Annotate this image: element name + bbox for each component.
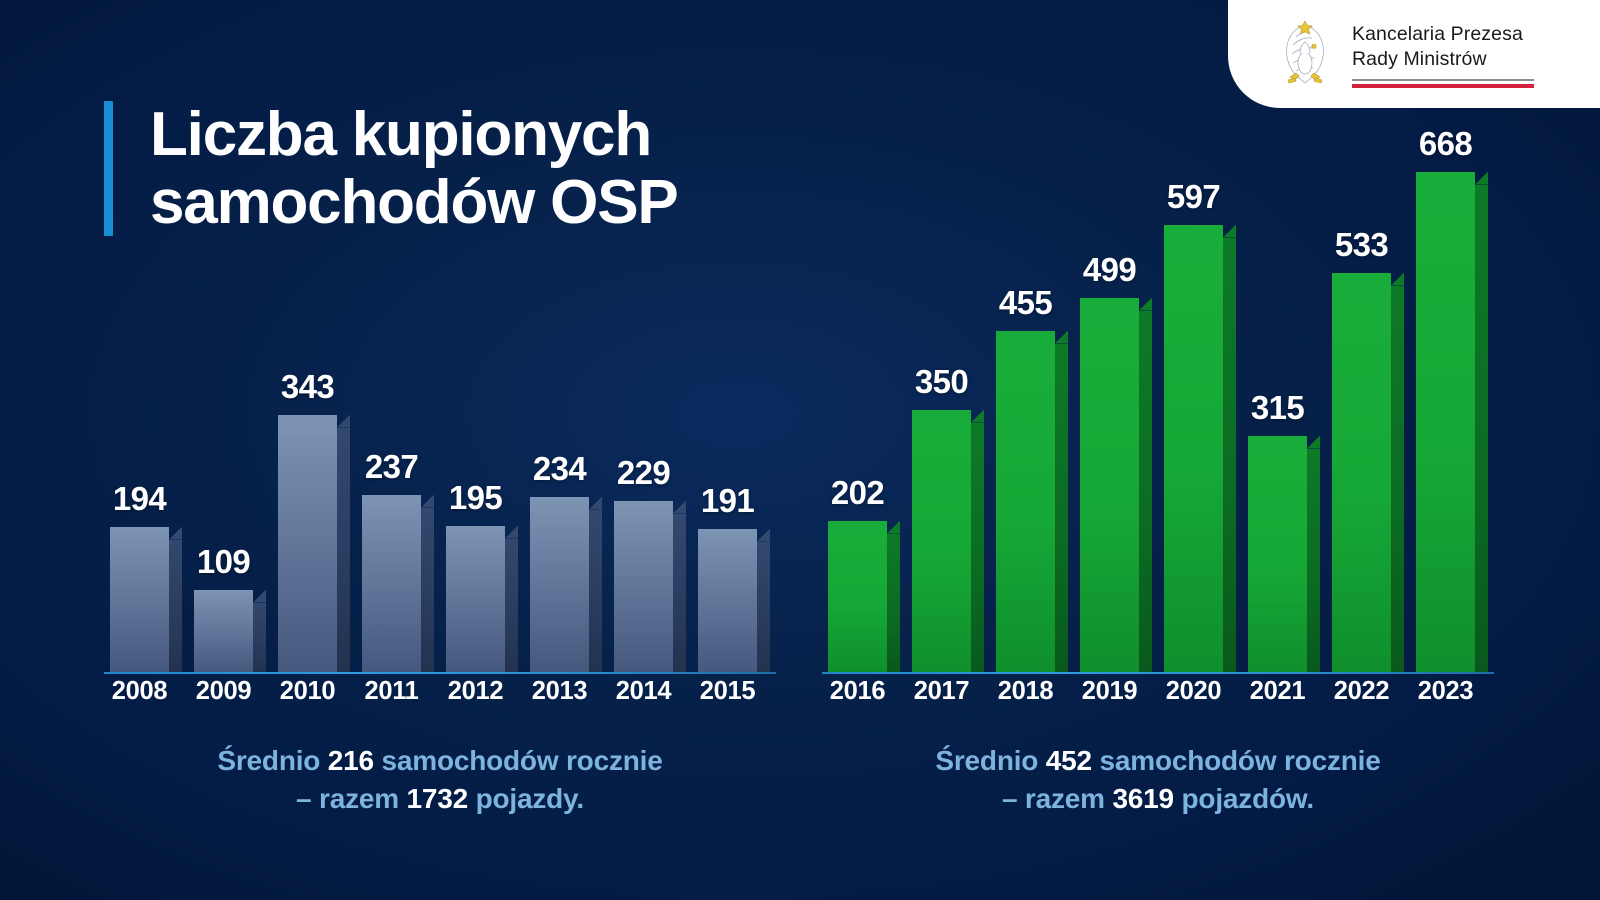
- bar-front-face: [1080, 298, 1139, 672]
- caption-total: 3619: [1112, 783, 1174, 814]
- bar-2010: 343: [278, 415, 350, 672]
- bar-top-face: [589, 497, 602, 510]
- x-label-2023: 2023: [1416, 677, 1475, 706]
- bar-side-face: [887, 534, 900, 672]
- bar-column: 191: [698, 529, 770, 672]
- x-axis-labels-current: 20162017201820192020202120222023: [822, 677, 1494, 719]
- bar-front-face: [110, 527, 169, 672]
- bar-top-face: [1307, 436, 1320, 449]
- caption-line2-suffix: pojazdy.: [468, 783, 584, 814]
- bar-side-face: [421, 508, 434, 672]
- bar-value-label: 109: [194, 543, 253, 581]
- caption-average: 452: [1046, 745, 1092, 776]
- caption-historic: Średnio 216 samochodów rocznie – razem 1…: [104, 742, 776, 817]
- bar-front-face: [362, 495, 421, 672]
- x-label-2019: 2019: [1080, 677, 1139, 706]
- plot-area-historic: 194109343237195234229191: [104, 150, 776, 674]
- bar-front-face: [1416, 172, 1475, 672]
- bar-front-face: [828, 521, 887, 672]
- bar-value-label: 229: [614, 454, 673, 492]
- bar-top-face: [1475, 172, 1488, 185]
- bar-2011: 237: [362, 495, 434, 672]
- bar-top-face: [169, 527, 182, 540]
- bar-side-face: [1475, 185, 1488, 672]
- bar-side-face: [253, 603, 266, 672]
- logo-rule-group: [1352, 79, 1534, 88]
- bar-top-face: [337, 415, 350, 428]
- bar-2012: 195: [446, 526, 518, 672]
- x-label-2009: 2009: [194, 677, 253, 706]
- bar-value-label: 237: [362, 448, 421, 486]
- x-label-2016: 2016: [828, 677, 887, 706]
- bar-column: 597: [1164, 225, 1236, 672]
- bar-top-face: [1391, 273, 1404, 286]
- bar-column: 499: [1080, 298, 1152, 672]
- x-label-2010: 2010: [278, 677, 337, 706]
- caption-average: 216: [328, 745, 374, 776]
- bar-value-label: 350: [912, 363, 971, 401]
- bar-value-label: 597: [1164, 178, 1223, 216]
- bar-2023: 668: [1416, 172, 1488, 672]
- bar-column: 343: [278, 415, 350, 672]
- x-label-2022: 2022: [1332, 677, 1391, 706]
- bar-2008: 194: [110, 527, 182, 672]
- caption-line2-suffix: pojazdów.: [1174, 783, 1314, 814]
- bar-value-label: 315: [1248, 389, 1307, 427]
- caption-middle: samochodów rocznie: [1092, 745, 1381, 776]
- bar-column: 237: [362, 495, 434, 672]
- logo-rule-red: [1352, 84, 1534, 88]
- bar-2016: 202: [828, 521, 900, 672]
- bar-side-face: [1391, 286, 1404, 672]
- bar-side-face: [1139, 311, 1152, 672]
- bar-side-face: [1223, 238, 1236, 672]
- government-logo-plaque: Kancelaria Prezesa Rady Ministrów: [1228, 0, 1600, 108]
- bar-top-face: [505, 526, 518, 539]
- bar-top-face: [1055, 331, 1068, 344]
- bar-value-label: 668: [1416, 125, 1475, 163]
- bar-2017: 350: [912, 410, 984, 672]
- bar-column: 668: [1416, 172, 1488, 672]
- bar-top-face: [1223, 225, 1236, 238]
- bar-top-face: [253, 590, 266, 603]
- bar-front-face: [1248, 436, 1307, 672]
- bar-column: 194: [110, 527, 182, 672]
- bar-side-face: [1055, 344, 1068, 672]
- polish-eagle-emblem-icon: [1274, 17, 1336, 91]
- bar-front-face: [194, 590, 253, 672]
- bar-value-label: 234: [530, 450, 589, 488]
- x-label-2014: 2014: [614, 677, 673, 706]
- bar-side-face: [971, 423, 984, 672]
- bar-2009: 109: [194, 590, 266, 672]
- bar-2014: 229: [614, 501, 686, 672]
- logo-rule-gray: [1352, 79, 1534, 81]
- bar-column: 109: [194, 590, 266, 672]
- bar-top-face: [421, 495, 434, 508]
- chart-panel-current: 202350455499597315533668 201620172018201…: [822, 150, 1494, 870]
- x-label-2011: 2011: [362, 677, 421, 706]
- bar-side-face: [673, 514, 686, 672]
- caption-total: 1732: [407, 783, 469, 814]
- bar-top-face: [1139, 298, 1152, 311]
- bar-column: 195: [446, 526, 518, 672]
- bar-front-face: [446, 526, 505, 672]
- bar-group-historic: 194109343237195234229191: [104, 150, 776, 672]
- caption-line2-prefix: – razem: [1002, 783, 1112, 814]
- caption-line2-prefix: – razem: [296, 783, 406, 814]
- bar-2020: 597: [1164, 225, 1236, 672]
- bar-column: 315: [1248, 436, 1320, 672]
- bar-2015: 191: [698, 529, 770, 672]
- bar-front-face: [278, 415, 337, 672]
- x-label-2020: 2020: [1164, 677, 1223, 706]
- x-axis-labels-historic: 20082009201020112012201320142015: [104, 677, 776, 719]
- logo-text-block: Kancelaria Prezesa Rady Ministrów: [1352, 20, 1534, 87]
- logo-line-2: Rady Ministrów: [1352, 47, 1534, 72]
- bar-value-label: 499: [1080, 251, 1139, 289]
- x-label-2008: 2008: [110, 677, 169, 706]
- x-label-2018: 2018: [996, 677, 1055, 706]
- bar-value-label: 455: [996, 284, 1055, 322]
- bar-value-label: 343: [278, 368, 337, 406]
- bar-column: 533: [1332, 273, 1404, 672]
- bar-top-face: [673, 501, 686, 514]
- bar-top-face: [887, 521, 900, 534]
- bar-column: 455: [996, 331, 1068, 672]
- bar-front-face: [1164, 225, 1223, 672]
- bar-2013: 234: [530, 497, 602, 672]
- bar-side-face: [1307, 449, 1320, 672]
- bar-2019: 499: [1080, 298, 1152, 672]
- caption-middle: samochodów rocznie: [374, 745, 663, 776]
- x-label-2017: 2017: [912, 677, 971, 706]
- x-label-2012: 2012: [446, 677, 505, 706]
- bar-column: 234: [530, 497, 602, 672]
- bar-front-face: [996, 331, 1055, 672]
- bar-value-label: 533: [1332, 226, 1391, 264]
- x-axis-line-current: [822, 672, 1494, 675]
- bar-2021: 315: [1248, 436, 1320, 672]
- chart-panel-historic: 194109343237195234229191 200820092010201…: [104, 150, 776, 870]
- bar-front-face: [698, 529, 757, 672]
- bar-group-current: 202350455499597315533668: [822, 150, 1494, 672]
- bar-side-face: [505, 539, 518, 672]
- caption-prefix: Średnio: [217, 745, 327, 776]
- x-label-2013: 2013: [530, 677, 589, 706]
- bar-value-label: 191: [698, 482, 757, 520]
- bar-side-face: [337, 428, 350, 672]
- bar-column: 229: [614, 501, 686, 672]
- bar-front-face: [1332, 273, 1391, 672]
- bar-side-face: [169, 540, 182, 672]
- bar-2022: 533: [1332, 273, 1404, 672]
- bar-side-face: [589, 510, 602, 672]
- bar-value-label: 194: [110, 480, 169, 518]
- bar-2018: 455: [996, 331, 1068, 672]
- bar-front-face: [530, 497, 589, 672]
- bar-top-face: [971, 410, 984, 423]
- caption-prefix: Średnio: [935, 745, 1045, 776]
- bar-column: 202: [828, 521, 900, 672]
- caption-current: Średnio 452 samochodów rocznie – razem 3…: [822, 742, 1494, 817]
- bar-value-label: 202: [828, 474, 887, 512]
- x-label-2015: 2015: [698, 677, 757, 706]
- bar-front-face: [912, 410, 971, 672]
- infographic-root: Kancelaria Prezesa Rady Ministrów Liczba…: [0, 0, 1600, 900]
- bar-value-label: 195: [446, 479, 505, 517]
- bar-top-face: [757, 529, 770, 542]
- x-label-2021: 2021: [1248, 677, 1307, 706]
- x-axis-line-historic: [104, 672, 776, 675]
- bar-side-face: [757, 542, 770, 672]
- plot-area-current: 202350455499597315533668: [822, 150, 1494, 674]
- bar-column: 350: [912, 410, 984, 672]
- bar-front-face: [614, 501, 673, 672]
- logo-line-1: Kancelaria Prezesa: [1352, 22, 1534, 47]
